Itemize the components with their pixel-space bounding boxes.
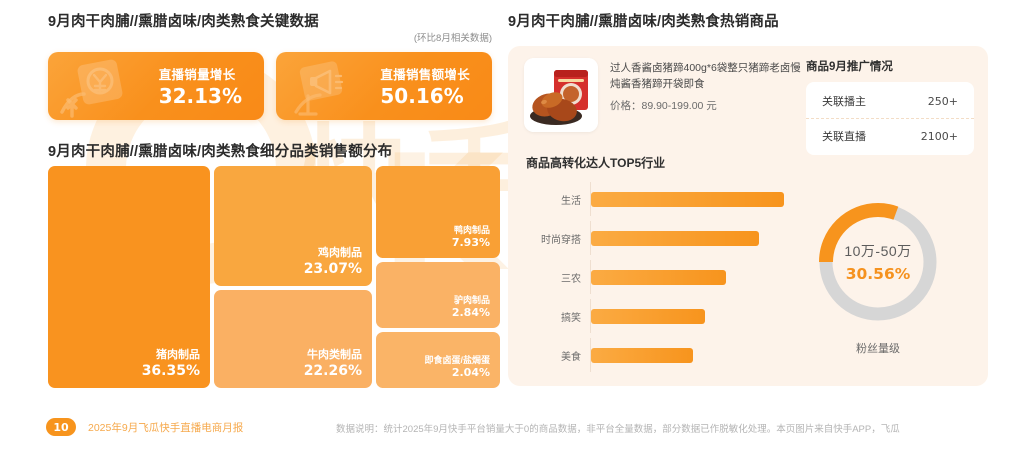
product-price: 价格：89.90-199.00 元 bbox=[610, 98, 806, 113]
data-disclaimer: 数据说明：统计2025年9月快手平台销量大于0的商品数据，非平台全量数据，部分数… bbox=[336, 421, 900, 435]
bar-chart-row: 三农 bbox=[526, 260, 792, 294]
promotion-value: 2100+ bbox=[921, 130, 958, 143]
kpi-value: 32.13% bbox=[159, 84, 242, 108]
top-industries-bar-chart: 生活时尚穿搭三农搞笑美食 bbox=[526, 182, 792, 372]
treemap-cell: 即食卤蛋/盐焗蛋2.04% bbox=[376, 332, 500, 388]
donut-caption: 粉丝量级 bbox=[790, 340, 966, 356]
treemap-cell: 鸭肉制品7.93% bbox=[376, 166, 500, 258]
product-info: 过人香酱卤猪蹄400g*6袋整只猪蹄老卤慢炖酱香猪蹄开袋即食 价格：89.90-… bbox=[610, 58, 806, 132]
kpi-label: 直播销售额增长 bbox=[380, 64, 470, 83]
bar-track bbox=[590, 338, 792, 372]
treemap-cell: 猪肉制品36.35% bbox=[48, 166, 210, 388]
treemap-cell-value: 2.04% bbox=[452, 366, 490, 380]
category-treemap-chart: 猪肉制品36.35%鸡肉制品23.07%牛肉类制品22.26%鸭肉制品7.93%… bbox=[48, 166, 500, 388]
kpi-text-block: 直播销量增长 32.13% bbox=[159, 64, 264, 108]
bar-track bbox=[590, 299, 792, 333]
right-column: 9月肉干肉脯//熏腊卤味/肉类熟食热销商品 bbox=[508, 0, 988, 457]
promotion-label: 关联直播 bbox=[822, 128, 866, 144]
kpi-label: 直播销量增长 bbox=[159, 64, 242, 83]
treemap-cell-value: 23.07% bbox=[304, 261, 362, 279]
product-name: 过人香酱卤猪蹄400g*6袋整只猪蹄老卤慢炖酱香猪蹄开袋即食 bbox=[610, 60, 806, 93]
right-section-title: 9月肉干肉脯//熏腊卤味/肉类熟食热销商品 bbox=[508, 10, 779, 31]
treemap-cell-label: 驴肉制品 bbox=[454, 295, 490, 306]
bar-category-label: 生活 bbox=[526, 192, 590, 207]
treemap-cell-label: 牛肉类制品 bbox=[307, 349, 362, 363]
treemap-cell-label: 即食卤蛋/盐焗蛋 bbox=[424, 355, 490, 366]
report-page: K 快手版 9月肉干肉脯//熏腊卤味/肉类熟食关键数据 (环比8月相关数据) 直… bbox=[0, 0, 1024, 457]
bar-chart-row: 时尚穿搭 bbox=[526, 221, 792, 255]
bar-chart-row: 美食 bbox=[526, 338, 792, 372]
kpi-value: 50.16% bbox=[380, 84, 470, 108]
megaphone-icon bbox=[286, 56, 370, 120]
kpi-subnote: (环比8月相关数据) bbox=[414, 30, 492, 44]
bar-fill bbox=[591, 309, 705, 324]
promotion-value: 250+ bbox=[928, 95, 958, 108]
page-number-badge: 10 bbox=[46, 418, 76, 436]
bar-track bbox=[590, 260, 792, 294]
bar-chart-row: 生活 bbox=[526, 182, 792, 216]
braised-pork-trotter-image bbox=[524, 58, 598, 132]
bar-track bbox=[590, 182, 792, 216]
treemap-cell-value: 2.84% bbox=[452, 306, 490, 320]
table-row: 关联直播 2100+ bbox=[806, 118, 974, 153]
bar-track bbox=[590, 221, 792, 255]
promotion-table: 关联播主 250+ 关联直播 2100+ bbox=[806, 82, 974, 155]
report-name: 2025年9月飞瓜快手直播电商月报 bbox=[88, 420, 243, 435]
bar-category-label: 美食 bbox=[526, 348, 590, 363]
bar-fill bbox=[591, 270, 726, 285]
treemap-cell-value: 22.26% bbox=[304, 363, 362, 381]
treemap-cell-value: 36.35% bbox=[142, 363, 200, 381]
promotion-summary: 商品9月推广情况 关联播主 250+ 关联直播 2100+ bbox=[806, 58, 974, 155]
fans-level-donut-chart: 10万-50万 30.56% bbox=[812, 196, 944, 328]
kpi-card-live-gmv-growth[interactable]: 直播销售额增长 50.16% bbox=[276, 52, 492, 120]
treemap-cell-label: 鸭肉制品 bbox=[454, 225, 490, 236]
treemap-cell: 鸡肉制品23.07% bbox=[214, 166, 372, 286]
bar-fill bbox=[591, 192, 784, 207]
treemap-cell: 牛肉类制品22.26% bbox=[214, 290, 372, 388]
bar-category-label: 时尚穿搭 bbox=[526, 231, 590, 246]
fans-level-donut-block: 10万-50万 30.56% 粉丝量级 bbox=[790, 196, 966, 356]
kpi-card-row: 直播销量增长 32.13% 直播销售额增长 50.16% bbox=[48, 52, 492, 120]
table-row: 关联播主 250+ bbox=[806, 84, 974, 118]
hot-product-panel: 过人香酱卤猪蹄400g*6袋整只猪蹄老卤慢炖酱香猪蹄开袋即食 价格：89.90-… bbox=[508, 46, 988, 386]
promotion-heading: 商品9月推广情况 bbox=[806, 58, 974, 74]
bar-fill bbox=[591, 348, 693, 363]
left-section-title: 9月肉干肉脯//熏腊卤味/肉类熟食关键数据 bbox=[48, 10, 319, 31]
donut-range-label: 10万-50万 bbox=[844, 241, 911, 261]
kpi-text-block: 直播销售额增长 50.16% bbox=[380, 64, 492, 108]
left-column: 9月肉干肉脯//熏腊卤味/肉类熟食关键数据 (环比8月相关数据) 直播销量增长 … bbox=[40, 0, 500, 457]
treemap-cell-label: 鸡肉制品 bbox=[318, 247, 362, 261]
treemap-cell: 驴肉制品2.84% bbox=[376, 262, 500, 328]
treemap-cell-label: 猪肉制品 bbox=[156, 349, 200, 363]
kpi-card-live-sales-volume[interactable]: 直播销量增长 32.13% bbox=[48, 52, 264, 120]
treemap-title: 9月肉干肉脯//熏腊卤味/肉类熟食细分品类销售额分布 bbox=[48, 140, 392, 161]
bar-category-label: 三农 bbox=[526, 270, 590, 285]
donut-center-label: 10万-50万 30.56% bbox=[812, 196, 944, 328]
money-bag-icon bbox=[58, 56, 142, 120]
product-block[interactable]: 过人香酱卤猪蹄400g*6袋整只猪蹄老卤慢炖酱香猪蹄开袋即食 价格：89.90-… bbox=[524, 58, 806, 132]
treemap-cell-value: 7.93% bbox=[452, 236, 490, 250]
promotion-label: 关联播主 bbox=[822, 93, 866, 109]
bar-category-label: 搞笑 bbox=[526, 309, 590, 324]
bar-chart-title: 商品高转化达人TOP5行业 bbox=[526, 154, 665, 171]
product-thumbnail bbox=[524, 58, 598, 132]
bar-fill bbox=[591, 231, 759, 246]
donut-percent-value: 30.56% bbox=[846, 265, 911, 283]
page-footer: 10 2025年9月飞瓜快手直播电商月报 数据说明：统计2025年9月快手平台销… bbox=[0, 411, 1024, 457]
bar-chart-row: 搞笑 bbox=[526, 299, 792, 333]
